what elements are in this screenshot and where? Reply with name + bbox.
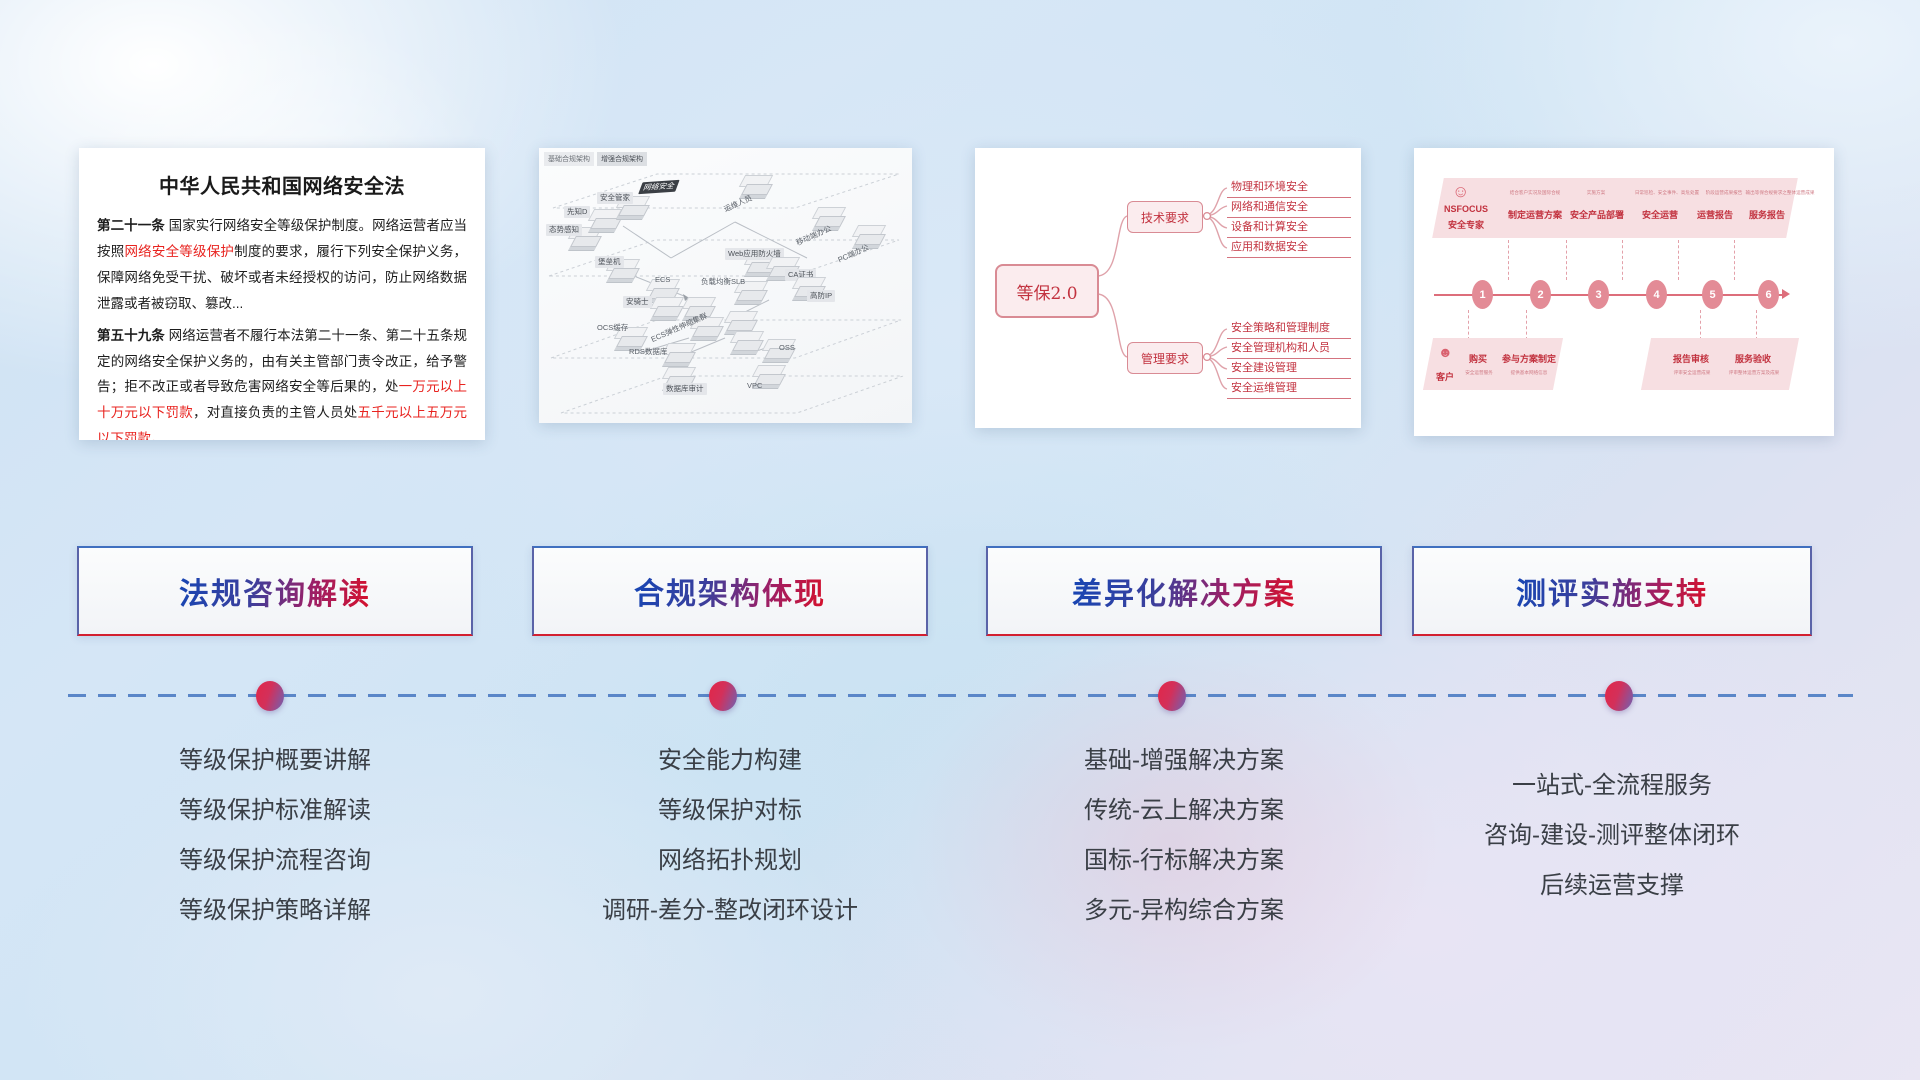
law-text: ，对直接负责的主管人员处 [193, 405, 358, 420]
label-situational-awareness: 态势感知 [546, 224, 582, 236]
detail-list-1: 等级保护概要讲解 等级保护标准解读 等级保护流程咨询 等级保护策略详解 [77, 736, 473, 936]
headline-label: 差异化解决方案 [1072, 569, 1296, 613]
headline-row: 法规咨询解读 合规架构体现 差异化解决方案 测评实施支持 [0, 546, 1920, 642]
label-security-butler: 安全管家 [597, 192, 633, 204]
law-text-highlight: 网络安全等级保护 [124, 244, 234, 259]
customer-person-icon: ☻ [1438, 344, 1453, 360]
customer-step-title: 购买 [1458, 352, 1498, 365]
headline-box-3[interactable]: 差异化解决方案 [986, 546, 1382, 636]
headline-label: 合规架构体现 [634, 569, 826, 613]
timeline-arrow-icon [1782, 289, 1790, 299]
architecture-card: 基础合规架构 增强合规架构 [539, 148, 912, 423]
mindmap-branch-tech: 技术要求 [1127, 201, 1203, 233]
detail-list-3: 基础-增强解决方案 传统-云上解决方案 国标-行标解决方案 多元-异构综合方案 [986, 736, 1382, 936]
detail-list-2: 安全能力构建 等级保护对标 网络拓扑规划 调研-差分-整改闭环设计 [532, 736, 928, 936]
image-cards-row: 中华人民共和国网络安全法 第二十一条 国家实行网络安全等级保护制度。网络运营者应… [0, 148, 1920, 448]
law-paragraph-1: 第二十一条 国家实行网络安全等级保护制度。网络运营者应当按照网络安全等级保护制度… [97, 213, 467, 317]
connector-dash [1678, 240, 1680, 280]
expert-step-sub: 输出等保合规要求之整体运营成果 [1728, 190, 1832, 196]
list-item: 网络拓扑规划 [532, 836, 928, 886]
timeline-marker-1 [256, 681, 284, 711]
node-ecs-autoscale-d [735, 340, 761, 360]
expert-step-title: 服务报告 [1742, 208, 1792, 221]
timeline-marker-4 [1605, 681, 1633, 711]
mindmap-collapse-icon-mgmt [1204, 354, 1211, 361]
milestone-5: 5 [1702, 280, 1723, 309]
expert-role-line2: 安全专家 [1438, 218, 1494, 231]
expert-person-icon: ☺ [1452, 182, 1469, 202]
node-slb [739, 290, 765, 310]
expert-role-line1: NSFOCUS [1438, 204, 1494, 214]
node-situational-awareness [573, 236, 599, 256]
service-flow-card: ☺ NSFOCUS 安全专家 结合客户实况及国际合规 制定运营方案 实施方案 安… [1414, 148, 1834, 436]
law-card-body: 中华人民共和国网络安全法 第二十一条 国家实行网络安全等级保护制度。网络运营者应… [79, 148, 485, 440]
headline-label: 法规咨询解读 [179, 569, 371, 613]
expert-step-title: 安全产品部署 [1562, 208, 1632, 221]
list-item: 安全能力构建 [532, 736, 928, 786]
mindmap-leaf: 安全建设管理 [1227, 357, 1351, 379]
expert-step-sub: 实施方案 [1566, 190, 1626, 196]
label-oss: OSS [779, 344, 795, 352]
connector-dash [1508, 240, 1510, 280]
node-xianzhi-d [593, 218, 619, 238]
service-flow-diagram: ☺ NSFOCUS 安全专家 结合客户实况及国际合规 制定运营方案 实施方案 安… [1414, 148, 1834, 436]
law-article-label-2: 第五十九条 [97, 328, 165, 343]
milestone-3: 3 [1588, 280, 1609, 309]
milestone-1: 1 [1472, 280, 1493, 309]
law-article-label-1: 第二十一条 [97, 218, 165, 233]
expert-step-title: 安全运营 [1632, 208, 1688, 221]
law-card-title: 中华人民共和国网络安全法 [97, 170, 467, 199]
mindmap-leaf: 网络和通信安全 [1227, 196, 1351, 218]
law-card: 中华人民共和国网络安全法 第二十一条 国家实行网络安全等级保护制度。网络运营者应… [79, 148, 485, 440]
node-bastion-host [611, 268, 637, 288]
connector-dash [1622, 240, 1624, 280]
list-item: 等级保护流程咨询 [77, 836, 473, 886]
label-slb: 负载均衡SLB [701, 278, 745, 286]
mindmap-leaf: 安全策略和管理制度 [1227, 317, 1351, 339]
customer-step-sub: 评审整体运营方案及成果 [1718, 370, 1790, 376]
mindmap-leaf: 安全管理机构和人员 [1227, 337, 1351, 359]
connector-dash [1700, 310, 1702, 340]
headline-box-4[interactable]: 测评实施支持 [1412, 546, 1812, 636]
headline-box-2[interactable]: 合规架构体现 [532, 546, 928, 636]
detail-list-4: 一站式-全流程服务 咨询-建设-测评整体闭环 后续运营支撑 [1412, 736, 1812, 911]
connector-dash [1468, 310, 1470, 340]
architecture-diagram: 基础合规架构 增强合规架构 [539, 148, 912, 423]
label-db-audit: 数据库审计 [663, 383, 707, 395]
expert-step-title: 运营报告 [1690, 208, 1740, 221]
label-anqishi: 安骑士 [623, 296, 652, 308]
node-ecs-autoscale-b [695, 326, 721, 346]
customer-step-sub: 评审安全运营成果 [1658, 370, 1726, 376]
label-ocs-cache: OCS缓存 [597, 324, 628, 332]
connector-dash [1566, 240, 1568, 280]
list-item: 等级保护对标 [532, 786, 928, 836]
mindmap: 等保2.0 技术要求 管理要求 物理和环境安全 网络和通信安全 设备和计算安全 … [975, 148, 1361, 428]
list-item: 基础-增强解决方案 [986, 736, 1382, 786]
mindmap-collapse-icon-tech [1204, 213, 1211, 220]
timeline-marker-2 [709, 681, 737, 711]
mindmap-leaf: 应用和数据安全 [1227, 236, 1351, 258]
list-item: 咨询-建设-测评整体闭环 [1412, 811, 1812, 861]
headline-box-1[interactable]: 法规咨询解读 [77, 546, 473, 636]
customer-step-sub: 提供基本网络信息 [1496, 370, 1562, 376]
label-rds: RDS数据库 [629, 348, 667, 356]
connector-dash [1756, 310, 1758, 340]
milestone-2: 2 [1530, 280, 1551, 309]
milestone-6: 6 [1758, 280, 1779, 309]
timeline-dashed-line [68, 694, 1853, 697]
connector-dash [1526, 310, 1528, 340]
mindmap-branch-mgmt: 管理要求 [1127, 342, 1203, 374]
label-anti-ddos-ip: 高防IP [807, 290, 835, 302]
label-ecs: ECS [655, 276, 670, 284]
timeline-marker-3 [1158, 681, 1186, 711]
list-item: 国标-行标解决方案 [986, 836, 1382, 886]
list-item: 传统-云上解决方案 [986, 786, 1382, 836]
milestone-4: 4 [1646, 280, 1667, 309]
mindmap-leaf: 安全运维管理 [1227, 377, 1351, 399]
list-item: 等级保护策略详解 [77, 886, 473, 936]
headline-label: 测评实施支持 [1516, 569, 1708, 613]
list-item: 多元-异构综合方案 [986, 886, 1382, 936]
list-item: 等级保护标准解读 [77, 786, 473, 836]
label-vpc: VPC [747, 382, 762, 390]
law-paragraph-2: 第五十九条 网络运营者不履行本法第二十一条、第二十五条规定的网络安全保护义务的，… [97, 323, 467, 440]
mindmap-leaf: 物理和环境安全 [1227, 176, 1351, 198]
list-item: 等级保护概要讲解 [77, 736, 473, 786]
label-xianzhi-d: 先知D [564, 206, 590, 218]
mindmap-root: 等保2.0 [995, 264, 1099, 318]
label-bastion-host: 堡垒机 [595, 256, 624, 268]
infographic-stage: 中华人民共和国网络安全法 第二十一条 国家实行网络安全等级保护制度。网络运营者应… [0, 0, 1920, 1080]
mindmap-card: 等保2.0 技术要求 管理要求 物理和环境安全 网络和通信安全 设备和计算安全 … [975, 148, 1361, 428]
list-item: 调研-差分-整改闭环设计 [532, 886, 928, 936]
mindmap-leaf: 设备和计算安全 [1227, 216, 1351, 238]
node-security-butler [621, 205, 647, 225]
customer-step-title: 参与方案制定 [1498, 352, 1560, 365]
customer-step-title: 服务验收 [1728, 352, 1778, 365]
list-item: 后续运营支撑 [1412, 861, 1812, 911]
list-item: 一站式-全流程服务 [1412, 761, 1812, 811]
connector-dash [1734, 240, 1736, 280]
customer-step-title: 报告审核 [1666, 352, 1716, 365]
